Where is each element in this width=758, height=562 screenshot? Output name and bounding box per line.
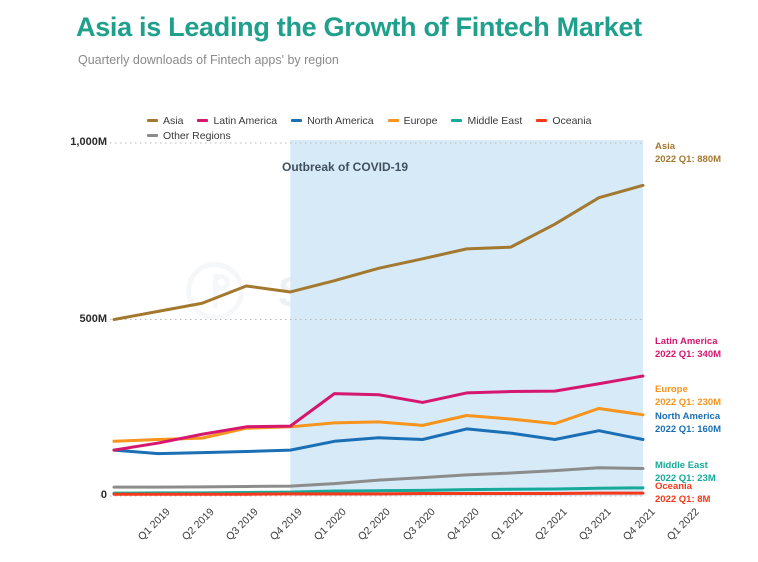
- covid-band-label: Outbreak of COVID-19: [282, 160, 408, 174]
- legend-swatch-icon: [451, 119, 462, 122]
- legend-swatch-icon: [291, 119, 302, 122]
- watermark-brand-light: Tower: [414, 268, 521, 315]
- annotation-series-value: 2022 Q1: 8M: [655, 494, 710, 507]
- annotation-series-name: Middle East: [655, 460, 716, 473]
- x-tick-label: Q1 2020: [312, 506, 349, 543]
- legend-item-label: Asia: [163, 115, 183, 127]
- legend-swatch-icon: [147, 119, 158, 122]
- series-line-europe[interactable]: [114, 408, 643, 441]
- x-tick-label: Q3 2019: [224, 506, 261, 543]
- annotation-series-value: 2022 Q1: 880M: [655, 154, 721, 167]
- annotation-series-value: 2022 Q1: 230M: [655, 397, 721, 410]
- annotation-series-name: Asia: [655, 141, 721, 154]
- annotation-series-value: 2022 Q1: 160M: [655, 424, 721, 437]
- x-tick-label: Q4 2019: [268, 506, 305, 543]
- x-tick-label: Q3 2021: [577, 506, 614, 543]
- legend-swatch-icon: [147, 134, 158, 137]
- series-line-oceania[interactable]: [114, 493, 643, 494]
- legend-swatch-icon: [197, 119, 208, 122]
- series-line-latin-america[interactable]: [114, 376, 643, 450]
- x-tick-label: Q3 2020: [400, 506, 437, 543]
- annotation-asia: Asia2022 Q1: 880M: [655, 141, 721, 166]
- legend-row-2: Other Regions: [147, 128, 647, 143]
- sensortower-bowl-icon: [213, 274, 230, 291]
- annotation-oceania: Oceania2022 Q1: 8M: [655, 481, 710, 506]
- series-line-north-america[interactable]: [114, 429, 643, 454]
- legend-item-label: Oceania: [552, 115, 591, 127]
- x-tick-label: Q1 2019: [136, 506, 173, 543]
- legend-item-europe[interactable]: Europe: [388, 115, 438, 127]
- legend-item-oceania[interactable]: Oceania: [536, 115, 591, 127]
- legend-item-north-america[interactable]: North America: [291, 115, 374, 127]
- legend-item-other-regions[interactable]: Other Regions: [147, 130, 231, 142]
- series-line-other-regions[interactable]: [114, 468, 643, 487]
- y-tick-label: 0: [45, 489, 107, 501]
- legend-item-label: Latin America: [213, 115, 277, 127]
- page-title: Asia is Leading the Growth of Fintech Ma…: [76, 12, 642, 43]
- watermark-text: SensorTower: [278, 268, 521, 316]
- legend-item-label: Europe: [404, 115, 438, 127]
- x-tick-label: Q2 2021: [533, 506, 570, 543]
- legend-item-latin-america[interactable]: Latin America: [197, 115, 277, 127]
- annotation-latin-america: Latin America2022 Q1: 340M: [655, 336, 721, 361]
- x-tick-label: Q4 2020: [444, 506, 481, 543]
- annotation-series-name: Latin America: [655, 336, 721, 349]
- x-tick-label: Q2 2019: [180, 506, 217, 543]
- x-tick-label: Q4 2021: [621, 506, 658, 543]
- x-tick-label: Q1 2021: [488, 506, 525, 543]
- legend-swatch-icon: [388, 119, 399, 122]
- page-subtitle: Quarterly downloads of Fintech apps' by …: [78, 53, 339, 67]
- legend-item-asia[interactable]: Asia: [147, 115, 183, 127]
- x-tick-label: Q1 2022: [665, 506, 702, 543]
- annotation-north-america: North America2022 Q1: 160M: [655, 411, 721, 436]
- chart-page: Asia is Leading the Growth of Fintech Ma…: [0, 0, 758, 562]
- x-tick-label: Q2 2020: [356, 506, 393, 543]
- annotation-series-value: 2022 Q1: 340M: [655, 349, 721, 362]
- legend-item-label: Other Regions: [163, 130, 231, 142]
- legend-item-label: North America: [307, 115, 374, 127]
- legend-swatch-icon: [536, 119, 547, 122]
- y-tick-label: 500M: [45, 313, 107, 325]
- annotation-series-name: Oceania: [655, 481, 710, 494]
- legend-item-middle-east[interactable]: Middle East: [451, 115, 522, 127]
- annotation-europe: Europe2022 Q1: 230M: [655, 384, 721, 409]
- series-line-middle-east[interactable]: [114, 488, 643, 493]
- chart-legend: AsiaLatin AmericaNorth AmericaEuropeMidd…: [147, 113, 647, 143]
- legend-row-1: AsiaLatin AmericaNorth AmericaEuropeMidd…: [147, 113, 647, 128]
- sensortower-watermark: SensorTower: [186, 262, 576, 324]
- y-tick-label: 1,000M: [45, 136, 107, 148]
- annotation-series-name: Europe: [655, 384, 721, 397]
- annotation-series-name: North America: [655, 411, 721, 424]
- legend-item-label: Middle East: [467, 115, 522, 127]
- watermark-brand-bold: Sensor: [278, 268, 414, 315]
